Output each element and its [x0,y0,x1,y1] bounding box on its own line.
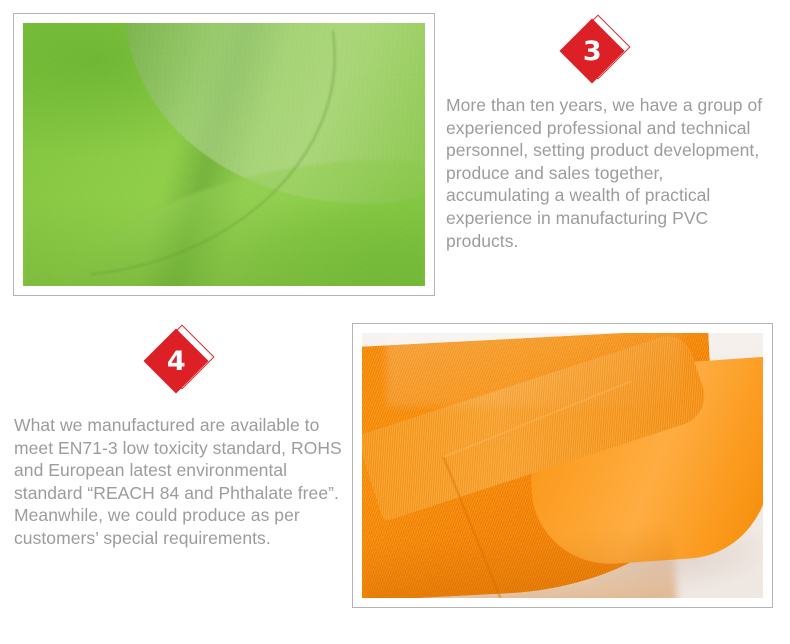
orange-sheen-decor [386,333,683,407]
green-fabric-photo [23,23,425,286]
block-3-paragraph: More than ten years, we have a group of … [446,94,766,252]
step-badge-4: 4 [152,332,214,394]
step-badge-3: 3 [568,22,630,84]
step-badge-3-number: 3 [569,28,615,74]
orange-fabric-photo-frame [352,323,773,608]
step-badge-4-number: 4 [153,338,199,384]
green-weave-texture-decor [23,23,425,286]
green-fabric-photo-frame [13,13,435,296]
orange-fabric-photo [362,333,763,598]
block-4-paragraph: What we manufactured are available to me… [14,414,344,550]
